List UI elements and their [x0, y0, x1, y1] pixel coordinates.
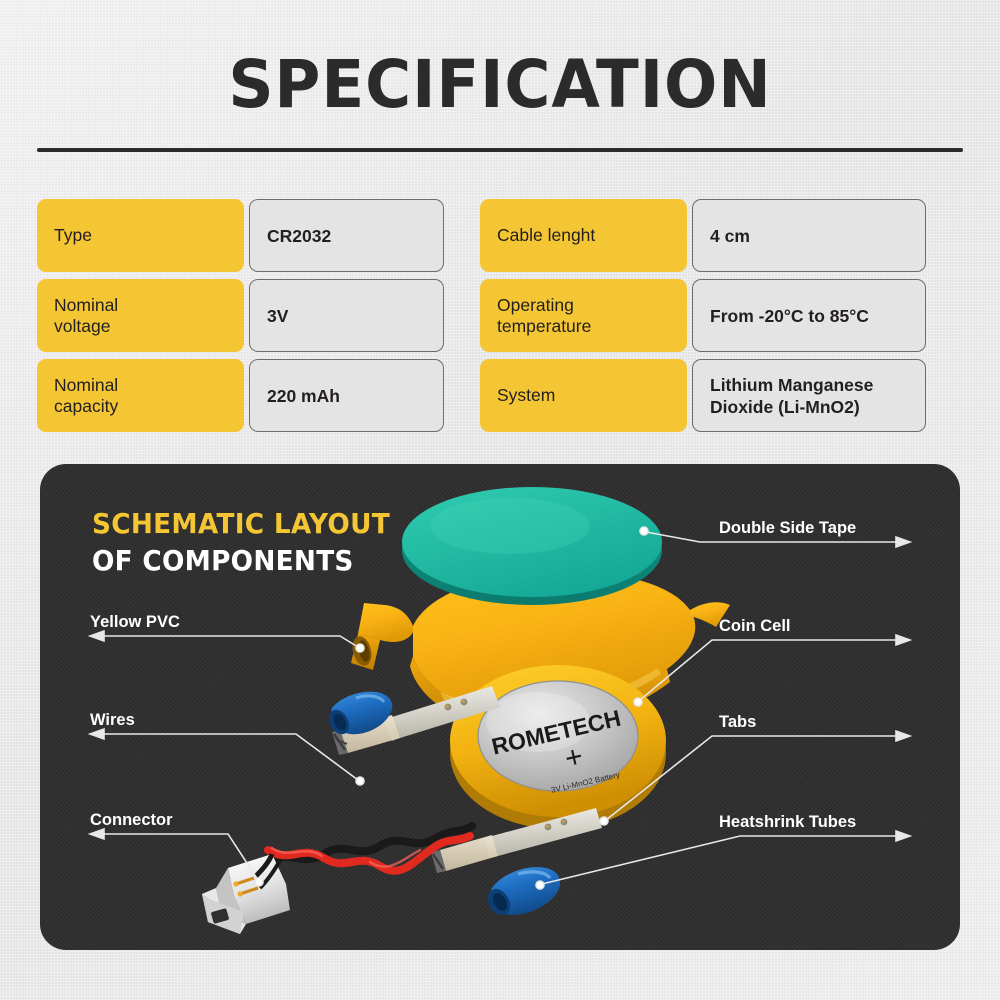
leader-arrow-tabs	[896, 731, 910, 741]
callout-label-wires: Wires	[90, 711, 135, 730]
callout-label-double-side-tape: Double Side Tape	[719, 519, 856, 538]
heatshrink-tube-lower-part	[483, 867, 560, 919]
spec-value-system: Lithium Manganese Dioxide (Li-MnO2)	[692, 359, 926, 432]
leader-yellow-pvc	[95, 636, 358, 647]
schematic-panel: SCHEMATIC LAYOUT OF COMPONENTS	[40, 464, 960, 950]
leader-arrow-yellow-pvc	[90, 631, 104, 641]
callout-label-coin-cell: Coin Cell	[719, 617, 791, 636]
column-gap	[444, 356, 480, 435]
callout-label-tabs: Tabs	[719, 713, 756, 732]
leader-wires	[95, 734, 358, 780]
column-gap	[444, 276, 480, 355]
spec-label-cable-length: Cable lenght	[480, 199, 687, 272]
spec-label-nominal-capacity: Nominal capacity	[37, 359, 244, 432]
spec-label-type: Type	[37, 199, 244, 272]
leader-arrow-coin-cell	[896, 635, 910, 645]
column-gap	[444, 196, 480, 275]
page-title: SPECIFICATION	[25, 50, 975, 120]
leader-arrow-double-side-tape	[896, 537, 910, 547]
callout-label-heatshrink-tubes: Heatshrink Tubes	[719, 813, 856, 832]
leader-arrow-heatshrink-tubes	[896, 831, 910, 841]
spec-value-nominal-voltage: 3V	[249, 279, 444, 352]
callout-label-connector: Connector	[90, 811, 173, 830]
spec-label-operating-temperature: Operating temperature	[480, 279, 687, 352]
spec-label-nominal-voltage: Nominal voltage	[37, 279, 244, 352]
spec-value-nominal-capacity: 220 mAh	[249, 359, 444, 432]
specification-table: Type CR2032 Cable lenght 4 cm Nominal vo…	[37, 196, 963, 435]
leader-arrow-connector	[90, 829, 104, 839]
spec-value-type: CR2032	[249, 199, 444, 272]
title-divider	[37, 148, 963, 152]
leader-heatshrink-tubes	[542, 836, 905, 884]
leader-arrow-wires	[90, 729, 104, 739]
double-side-tape-part	[402, 487, 662, 605]
callout-label-yellow-pvc: Yellow PVC	[90, 613, 180, 632]
spec-value-cable-length: 4 cm	[692, 199, 926, 272]
spec-label-system: System	[480, 359, 687, 432]
connector-part	[202, 854, 290, 934]
spec-value-operating-temperature: From -20°C to 85°C	[692, 279, 926, 352]
